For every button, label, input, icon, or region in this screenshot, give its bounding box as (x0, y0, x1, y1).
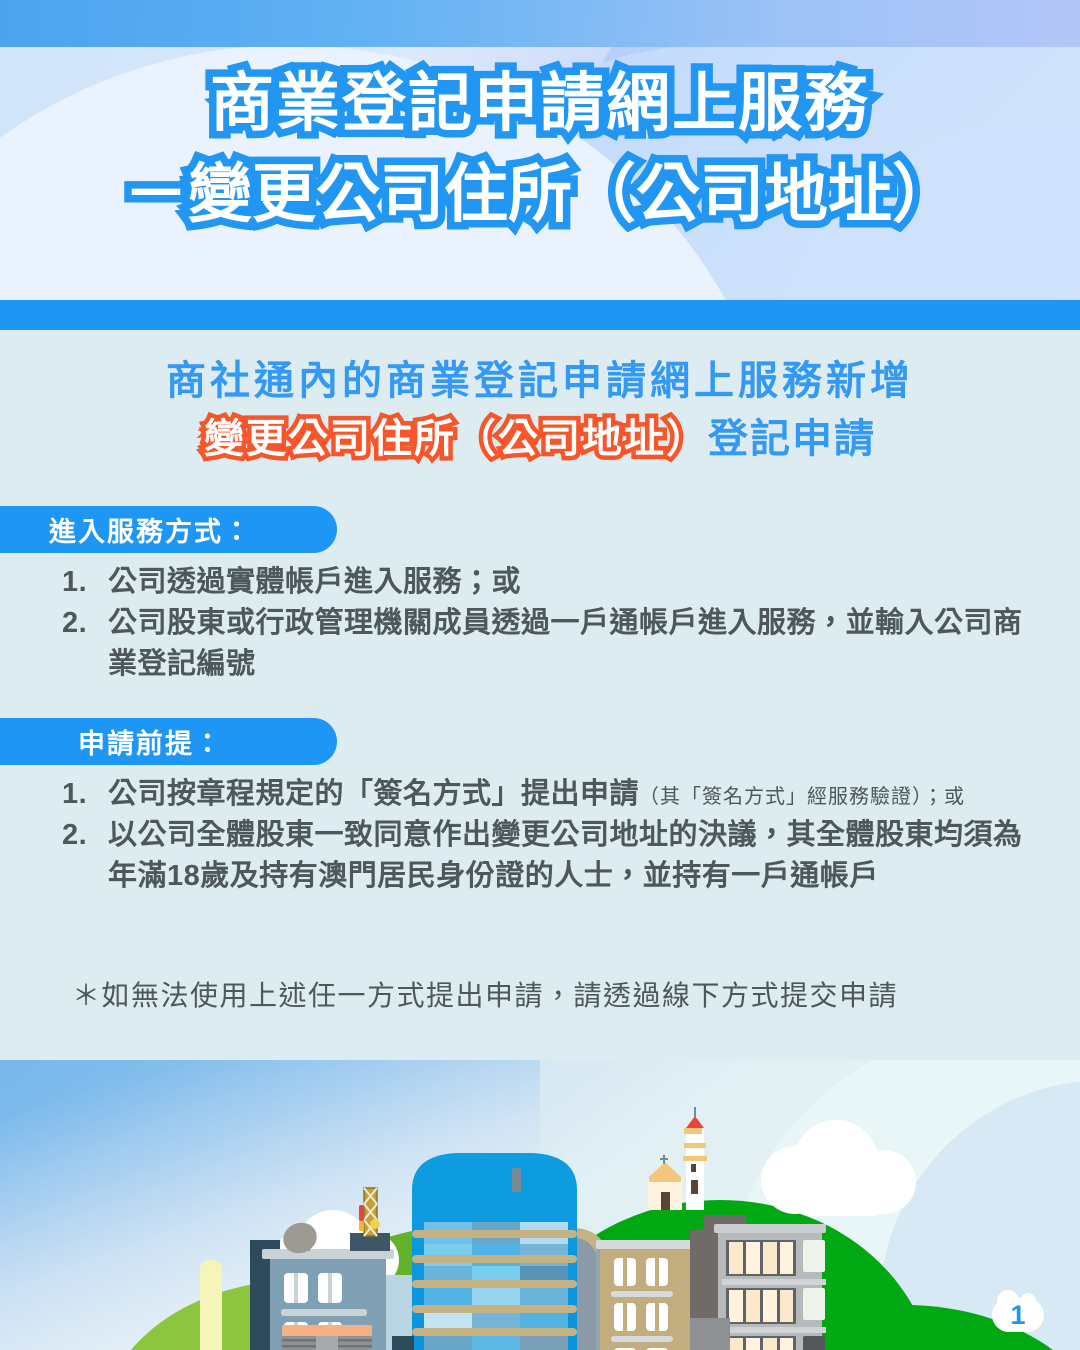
page-title-line-2: －變更公司住所（公司地址） (0, 149, 1080, 240)
building-center-glass-tower (412, 1153, 577, 1350)
list-item-text: 公司透過實體帳戶進入服務；或 (108, 562, 1050, 603)
subtitle-line-2-rest: 登記申請 (708, 417, 876, 461)
list-item-main-text: 公司按章程規定的「簽名方式」提出申請 (108, 778, 639, 810)
footnote-text: ＊如無法使用上述任一方式提出申請，請透過線下方式提交申請 (72, 976, 1062, 1015)
list-item: 2. 公司股東或行政管理機關成員透過一戶通帳戶進入服務，並輸入公司商業登記編號 (62, 603, 1050, 685)
page-number-badge: 1 (992, 1298, 1044, 1332)
page-title: 商業登記申請網上服務 －變更公司住所（公司地址） (0, 58, 1080, 240)
list-item: 2. 以公司全體股東一致同意作出變更公司地址的決議，其全體股東均須為年滿18歲及… (62, 815, 1050, 897)
list-item: 1. 公司透過實體帳戶進入服務；或 (62, 562, 1050, 603)
header-divider-bar (0, 300, 1080, 330)
poster-root: 商業登記申請網上服務 －變更公司住所（公司地址） 商社通內的商業登記申請網上服務… (0, 0, 1080, 1350)
section-badge-label: 申請前提： (78, 722, 223, 761)
subtitle-line-2: 變更公司住所（公司地址）登記申請 (0, 410, 1080, 468)
list-access-method: 1. 公司透過實體帳戶進入服務；或 2. 公司股東或行政管理機關成員透過一戶通帳… (62, 562, 1050, 686)
list-item-number: 1. (62, 774, 108, 815)
content-area: 商社通內的商業登記申請網上服務新增 變更公司住所（公司地址）登記申請 進入服務方… (0, 330, 1080, 1060)
cityscape-illustration (0, 1060, 1080, 1350)
list-item-number: 2. (62, 603, 108, 644)
list-item-number: 2. (62, 815, 108, 856)
list-item-text: 公司按章程規定的「簽名方式」提出申請（其「簽名方式」經服務驗證）；或 (108, 774, 1050, 815)
section-badge-label: 進入服務方式： (49, 510, 252, 549)
list-item-text: 以公司全體股東一致同意作出變更公司地址的決議，其全體股東均須為年滿18歲及持有澳… (108, 815, 1050, 897)
subtitle-line-1: 商社通內的商業登記申請網上服務新增 (0, 352, 1080, 410)
subtitle-highlight: 變更公司住所（公司地址） (204, 417, 708, 461)
list-prerequisites: 1. 公司按章程規定的「簽名方式」提出申請（其「簽名方式」經服務驗證）；或 2.… (62, 774, 1050, 898)
list-item-number: 1. (62, 562, 108, 603)
page-number-label: 1 (992, 1298, 1044, 1332)
building-pale-tower (200, 1260, 222, 1350)
header-top-bar (0, 0, 1080, 47)
building-left-shopfront (282, 1325, 372, 1350)
list-item-note: （其「簽名方式」經服務驗證）；或 (639, 786, 965, 808)
subtitle-block: 商社通內的商業登記申請網上服務新增 變更公司住所（公司地址）登記申請 (0, 352, 1080, 468)
header-banner: 商業登記申請網上服務 －變更公司住所（公司地址） (0, 0, 1080, 300)
section-badge-prerequisites: 申請前提： (0, 718, 337, 765)
subtitle-line-1-text: 商社通內的商業登記申請網上服務新增 (166, 359, 914, 403)
page-title-line-1: 商業登記申請網上服務 (0, 58, 1080, 149)
list-item-text: 公司股東或行政管理機關成員透過一戶通帳戶進入服務，並輸入公司商業登記編號 (108, 603, 1050, 685)
section-badge-access-method: 進入服務方式： (0, 506, 337, 553)
list-item: 1. 公司按章程規定的「簽名方式」提出申請（其「簽名方式」經服務驗證）；或 (62, 774, 1050, 815)
